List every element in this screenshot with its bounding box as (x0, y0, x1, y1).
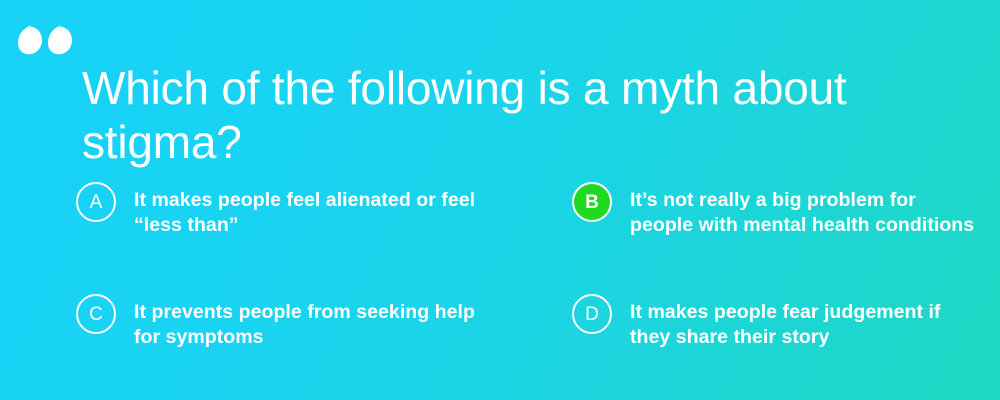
option-badge-b: B (572, 182, 612, 222)
answer-option-c[interactable]: C It prevents people from seeking help f… (0, 294, 500, 392)
option-badge-c: C (76, 294, 116, 334)
option-text-d: It makes people fear judgement if they s… (630, 294, 976, 350)
quiz-slide: Which of the following is a myth about s… (0, 0, 1000, 400)
option-badge-a: A (76, 182, 116, 222)
page-title: Which of the following is a myth about s… (82, 61, 922, 169)
double-quote-icon (18, 24, 76, 70)
answer-option-d[interactable]: D It makes people fear judgement if they… (500, 294, 1000, 392)
option-text-a: It makes people feel alienated or feel “… (134, 182, 476, 238)
option-text-c: It prevents people from seeking help for… (134, 294, 476, 350)
answer-options-grid: A It makes people feel alienated or feel… (0, 182, 1000, 392)
option-badge-d: D (572, 294, 612, 334)
option-text-b: It’s not really a big problem for people… (630, 182, 976, 238)
answer-option-a[interactable]: A It makes people feel alienated or feel… (0, 182, 500, 294)
answer-option-b[interactable]: B It’s not really a big problem for peop… (500, 182, 1000, 294)
